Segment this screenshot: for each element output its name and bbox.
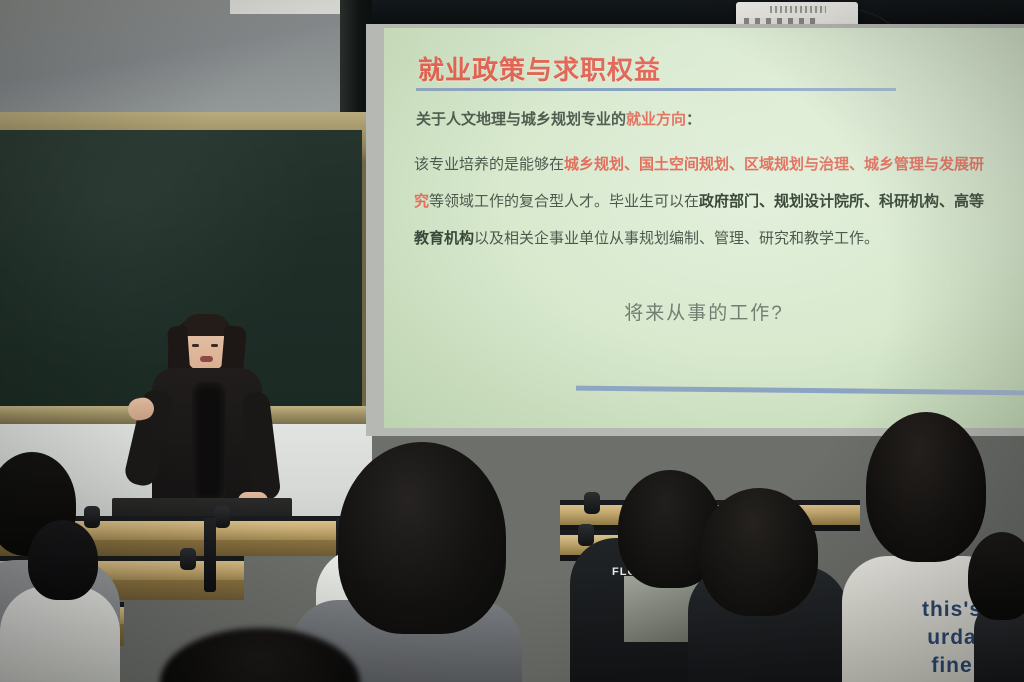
slide-body-run: 政府部门、规划设计院所、科研机构、高等 bbox=[699, 193, 984, 210]
lecture-hall-photo: 就业政策与求职权益 关于人文地理与城乡规划专业的就业方向： 该专业培养的是能够在… bbox=[0, 0, 1024, 682]
slide-lead-prefix: 关于人文地理与城乡规划专业的 bbox=[416, 111, 626, 128]
lecturer-eye-right bbox=[211, 344, 218, 347]
desk-knob bbox=[180, 548, 196, 570]
projector-vent-icon bbox=[770, 6, 826, 13]
slide-body-run: 城乡规划、国土空间规划、区域规划与治理、城乡管理与发展研 bbox=[564, 156, 984, 173]
student-head bbox=[28, 520, 98, 600]
slide-lead-line: 关于人文地理与城乡规划专业的就业方向： bbox=[416, 108, 701, 129]
slide-body-run: 以及相关企事业单位从事规划编制、管理、研究和教学工作。 bbox=[474, 230, 879, 247]
lecturer-fringe bbox=[182, 314, 230, 336]
slide-body-run: 等领域工作的复合型人才。毕业生可以在 bbox=[429, 193, 699, 210]
student-head bbox=[866, 412, 986, 562]
ceiling-strip bbox=[230, 0, 350, 14]
student-torso bbox=[0, 586, 120, 682]
slide-title-underline bbox=[416, 88, 896, 91]
slide-body-line: 该专业培养的是能够在城乡规划、国土空间规划、区域规划与治理、城乡管理与发展研 bbox=[414, 146, 1014, 183]
desk-knob bbox=[84, 506, 100, 528]
slide-body-run: 该专业培养的是能够在 bbox=[414, 156, 564, 173]
slide-lead-highlight: 就业方向 bbox=[626, 111, 686, 128]
lecturer-inner-top bbox=[192, 382, 226, 502]
lecturer-mouth bbox=[200, 356, 213, 362]
student-head bbox=[968, 532, 1024, 620]
slide-body-line: 教育机构以及相关企事业单位从事规划编制、管理、研究和教学工作。 bbox=[414, 220, 1014, 257]
upper-wall bbox=[0, 0, 380, 118]
student-head bbox=[338, 442, 506, 634]
student-head bbox=[700, 488, 818, 616]
desk-leg bbox=[204, 518, 216, 592]
slide-title: 就业政策与求职权益 bbox=[418, 50, 661, 87]
slide-body-text: 该专业培养的是能够在城乡规划、国土空间规划、区域规划与治理、城乡管理与发展研究等… bbox=[414, 146, 1014, 257]
slide-body-run: 教育机构 bbox=[414, 230, 474, 247]
slide-body-run: 究 bbox=[414, 193, 429, 210]
slide-question: 将来从事的工作? bbox=[384, 298, 1024, 325]
slide-lead-suffix: ： bbox=[686, 111, 701, 128]
desk-knob bbox=[584, 492, 600, 514]
slide-body-line: 究等领域工作的复合型人才。毕业生可以在政府部门、规划设计院所、科研机构、高等 bbox=[414, 183, 1014, 220]
desk-knob bbox=[214, 506, 230, 528]
lecturer-eye-left bbox=[192, 344, 199, 347]
desk-knob bbox=[578, 524, 594, 546]
presentation-slide: 就业政策与求职权益 关于人文地理与城乡规划专业的就业方向： 该专业培养的是能够在… bbox=[384, 28, 1024, 428]
slide-bottom-rule bbox=[576, 386, 1024, 396]
